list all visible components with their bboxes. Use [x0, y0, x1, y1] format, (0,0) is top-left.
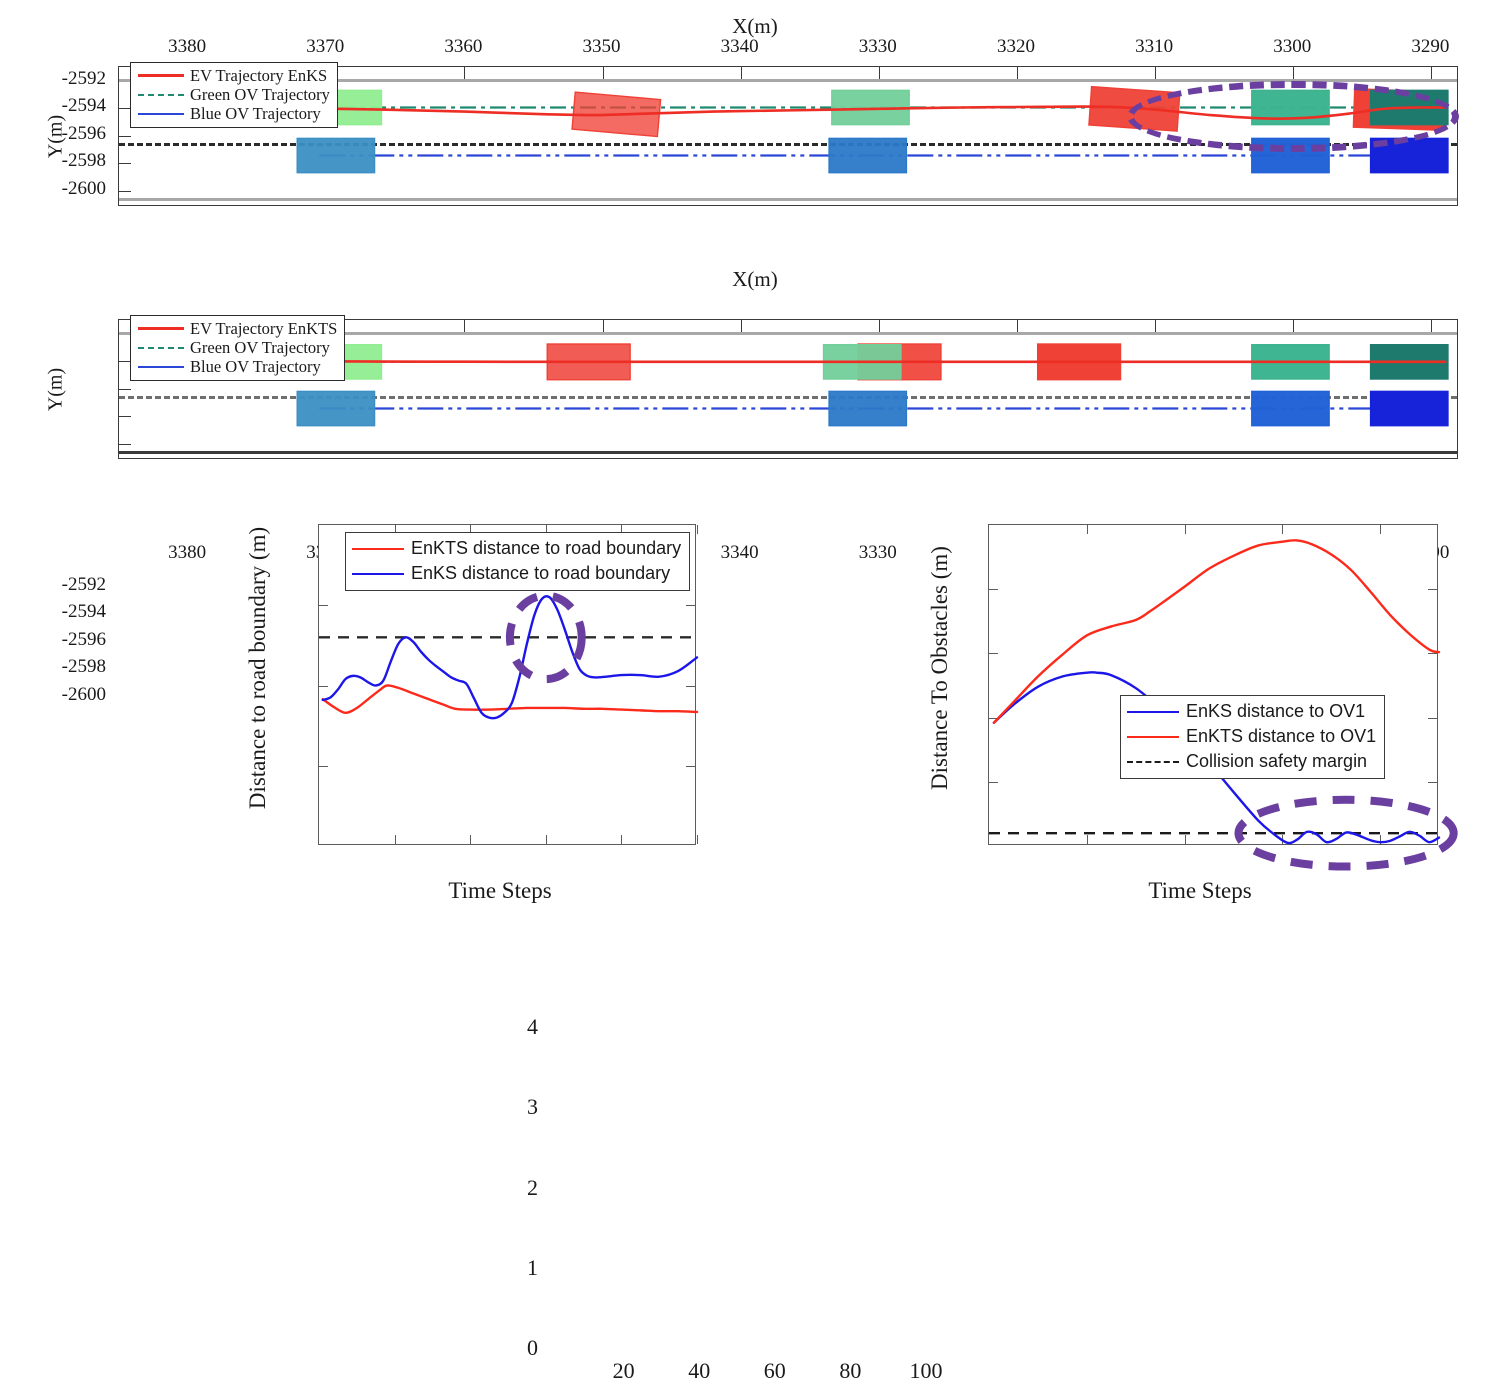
legend-item-enks-ov1: EnKS distance to OV1	[1127, 699, 1376, 724]
x-tick-label: 3300	[1247, 36, 1337, 58]
y-tick-label: -2594	[26, 601, 106, 623]
vehicle-blue-ov	[829, 391, 906, 425]
legend-item-ev-trajectory-enkts: EV Trajectory EnKTS	[138, 319, 337, 338]
chart3-x-axis-label: Time Steps	[290, 878, 710, 904]
vehicle-blue-ov	[829, 138, 906, 172]
x-tick-label: 100	[886, 1358, 966, 1384]
x-tick-label: 3310	[1109, 36, 1199, 58]
legend-item-enkts-road-boundary: EnKTS distance to road boundary	[352, 536, 681, 561]
legend-item-blue-ov-trajectory: Blue OV Trajectory	[138, 104, 330, 123]
x-tick-label: 20	[584, 1358, 664, 1384]
legend-item-collision-safety-margin: Collision safety margin	[1127, 749, 1376, 774]
chart4-y-axis-label: Distance To Obstacles (m)	[927, 518, 953, 818]
legend-label: EnKTS distance to OV1	[1186, 724, 1376, 749]
vehicle-blue-ov	[1252, 391, 1329, 425]
x-tick-label: 40	[659, 1358, 739, 1384]
legend-swatch-ev-red	[138, 327, 184, 330]
vehicle-blue-ov	[297, 138, 374, 172]
panel1-legend: EV Trajectory EnKS Green OV Trajectory B…	[130, 62, 338, 128]
legend-label: EnKS distance to road boundary	[411, 561, 670, 586]
vehicle-box	[1252, 391, 1329, 425]
chart3-y-axis-label: Distance to road boundary (m)	[245, 508, 271, 828]
chart4-x-axis-label: Time Steps	[960, 878, 1440, 904]
vehicle-blue-ov	[297, 391, 374, 425]
chart4-plot-area	[989, 525, 1439, 846]
x-tick-label: 3330	[833, 36, 923, 58]
legend-swatch-green-dashdot	[138, 347, 184, 349]
legend-label: EnKS distance to OV1	[1186, 699, 1365, 724]
y-tick-label: 2	[478, 1175, 538, 1201]
x-tick-label: 80	[810, 1358, 890, 1384]
y-tick-label: -2596	[26, 123, 106, 145]
x-tick-label: 3350	[557, 36, 647, 58]
x-tick-label: 3290	[1385, 36, 1475, 58]
trajectory-panel-enks: X(m) Y(m) 338033703360335033403330332033…	[0, 0, 1510, 250]
legend-swatch-blue-dashdotdot	[138, 113, 184, 115]
legend-label: Green OV Trajectory	[190, 338, 330, 357]
vehicle-box	[297, 391, 374, 425]
y-tick-label: 0	[478, 1335, 538, 1361]
panel2-y-axis-label: Y(m)	[45, 330, 68, 450]
y-tick-label: 3	[478, 1094, 538, 1120]
vehicle-box	[829, 138, 906, 172]
y-tick-label: -2592	[26, 68, 106, 90]
legend-label: Collision safety margin	[1186, 749, 1367, 774]
y-tick-label: -2594	[26, 95, 106, 117]
x-tickmark-top	[697, 525, 698, 534]
vehicle-box	[829, 391, 906, 425]
y-tick-label: -2600	[26, 684, 106, 706]
x-tick-label: 3370	[280, 36, 370, 58]
y-tick-label: 1	[478, 1255, 538, 1281]
legend-swatch-enks-blue	[352, 573, 404, 575]
y-tick-label: -2600	[26, 178, 106, 200]
highlight-ellipse	[1127, 81, 1459, 152]
x-tick-label: 60	[735, 1358, 815, 1384]
trajectory-panel-enkts: X(m) Y(m) 338033703360335033403330332033…	[0, 253, 1510, 498]
chart4-axes	[988, 524, 1438, 845]
series-line	[323, 596, 697, 718]
legend-item-green-ov-trajectory: Green OV Trajectory	[138, 338, 337, 357]
y-tick-label: -2596	[26, 629, 106, 651]
chart-distance-to-obstacles: Distance To Obstacles (m) 20406080 05101…	[900, 505, 1420, 915]
legend-label: EnKTS distance to road boundary	[411, 536, 681, 561]
panel2-legend: EV Trajectory EnKTS Green OV Trajectory …	[130, 315, 345, 381]
chart-distance-to-road-boundary: Distance to road boundary (m) 2040608010…	[230, 505, 710, 915]
x-tick-label: 3340	[695, 36, 785, 58]
chart3-legend: EnKTS distance to road boundary EnKS dis…	[345, 532, 690, 591]
legend-swatch-green-dashdot	[138, 94, 184, 96]
vehicle-box	[297, 138, 374, 172]
y-tick-label: -2592	[26, 574, 106, 596]
x-tick-label: 3360	[418, 36, 508, 58]
chart4-legend: EnKS distance to OV1 EnKTS distance to O…	[1120, 695, 1385, 779]
legend-swatch-blue-dashdotdot	[138, 366, 184, 368]
legend-item-ev-trajectory-enks: EV Trajectory EnKS	[138, 66, 330, 85]
legend-swatch-enkts-red	[1127, 736, 1179, 738]
legend-item-enkts-ov1: EnKTS distance to OV1	[1127, 724, 1376, 749]
y-tick-label: -2598	[26, 150, 106, 172]
vehicle-blue-ov	[1371, 391, 1448, 425]
panel2-x-axis-title: X(m)	[0, 267, 1510, 292]
legend-label: Green OV Trajectory	[190, 85, 330, 104]
legend-swatch-collision-margin-dashed	[1127, 761, 1179, 763]
legend-swatch-enks-blue	[1127, 711, 1179, 713]
legend-label: EV Trajectory EnKS	[190, 66, 327, 85]
y-tick-label: 4	[478, 1014, 538, 1040]
x-tickmark	[697, 835, 698, 844]
legend-label: EV Trajectory EnKTS	[190, 319, 337, 338]
legend-swatch-ev-red	[138, 74, 184, 77]
x-tick-label: 3380	[142, 542, 232, 564]
legend-item-enks-road-boundary: EnKS distance to road boundary	[352, 561, 681, 586]
vehicle-box	[1371, 391, 1448, 425]
x-tick-label: 3320	[971, 36, 1061, 58]
legend-item-green-ov-trajectory: Green OV Trajectory	[138, 85, 330, 104]
legend-label: Blue OV Trajectory	[190, 357, 321, 376]
legend-item-blue-ov-trajectory: Blue OV Trajectory	[138, 357, 337, 376]
x-tick-label: 3380	[142, 36, 232, 58]
legend-label: Blue OV Trajectory	[190, 104, 321, 123]
y-tick-label: -2598	[26, 656, 106, 678]
legend-swatch-enkts-red	[352, 548, 404, 550]
